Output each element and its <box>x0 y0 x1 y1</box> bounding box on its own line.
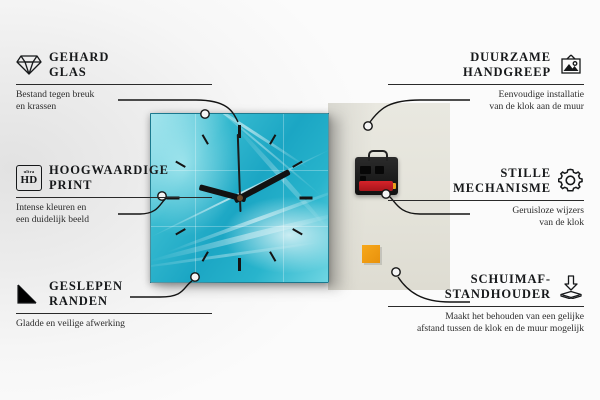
hour-tick <box>238 258 241 271</box>
feature-title: STILLEMECHANISME <box>453 166 551 197</box>
feature-heading: GESLEPENRANDEN <box>16 279 212 310</box>
product-infographic: GEHARDGLAS Bestand tegen breuken krassen… <box>0 0 600 400</box>
feature-description: Bestand tegen breuken krassen <box>16 89 212 114</box>
diamond-icon <box>16 52 42 78</box>
feature-description: Gladde en veilige afwerking <box>16 318 212 331</box>
feature-title: SCHUIMAF-STANDHOUDER <box>445 272 551 303</box>
feature-heading: STILLEMECHANISME <box>388 166 584 197</box>
beveled-edges-icon <box>16 281 42 307</box>
foam-spacer-icon <box>558 274 584 300</box>
feature-heading: DUURZAMEHANDGREEP <box>388 50 584 81</box>
feature-description: Maakt het behouden van een gelijkeafstan… <box>388 311 584 336</box>
foam-spacer-pad <box>362 245 380 263</box>
feature-title: HOOGWAARDIGEPRINT <box>49 163 169 194</box>
feature-heading: GEHARDGLAS <box>16 50 212 81</box>
feature-hoogwaardige-print: ultra HD HOOGWAARDIGEPRINT Intense kleur… <box>16 163 212 227</box>
divider <box>388 306 584 307</box>
divider <box>388 200 584 201</box>
divider <box>16 84 212 85</box>
picture-frame-icon <box>558 52 584 78</box>
gear-icon <box>558 168 584 194</box>
feature-description: Geruisloze wijzersvan de klok <box>388 205 584 230</box>
mechanism-hook <box>368 150 388 161</box>
feature-heading: SCHUIMAF-STANDHOUDER <box>388 272 584 303</box>
divider <box>16 197 212 198</box>
hour-tick <box>175 228 186 235</box>
hour-tick <box>300 197 313 200</box>
divider <box>16 313 212 314</box>
feature-description: Intense kleuren eneen duidelijk beeld <box>16 202 212 227</box>
grid-line <box>283 114 284 282</box>
feature-schuimafstandhouder: SCHUIMAF-STANDHOUDER Maakt het behouden … <box>388 272 584 336</box>
mechanism-slot <box>375 166 384 174</box>
feature-title: DUURZAMEHANDGREEP <box>463 50 551 81</box>
hour-tick <box>269 251 276 262</box>
hour-tick <box>202 134 209 145</box>
feature-title: GEHARDGLAS <box>49 50 109 81</box>
hour-tick <box>292 228 303 235</box>
feature-heading: ultra HD HOOGWAARDIGEPRINT <box>16 163 212 194</box>
feature-stille-mechanisme: STILLEMECHANISME Geruisloze wijzersvan d… <box>388 166 584 230</box>
feature-geslepen-randen: GESLEPENRANDEN Gladde en veilige afwerki… <box>16 279 212 330</box>
divider <box>388 84 584 85</box>
feature-gehard-glas: GEHARDGLAS Bestand tegen breuken krassen <box>16 50 212 114</box>
ultra-hd-icon: ultra HD <box>16 165 42 191</box>
feature-title: GESLEPENRANDEN <box>49 279 123 310</box>
hand-cap <box>237 195 243 201</box>
feature-description: Eenvoudige installatievan de klok aan de… <box>388 89 584 114</box>
feature-duurzame-handgreep: DUURZAMEHANDGREEP Eenvoudige installatie… <box>388 50 584 114</box>
mechanism-slot <box>360 166 371 174</box>
